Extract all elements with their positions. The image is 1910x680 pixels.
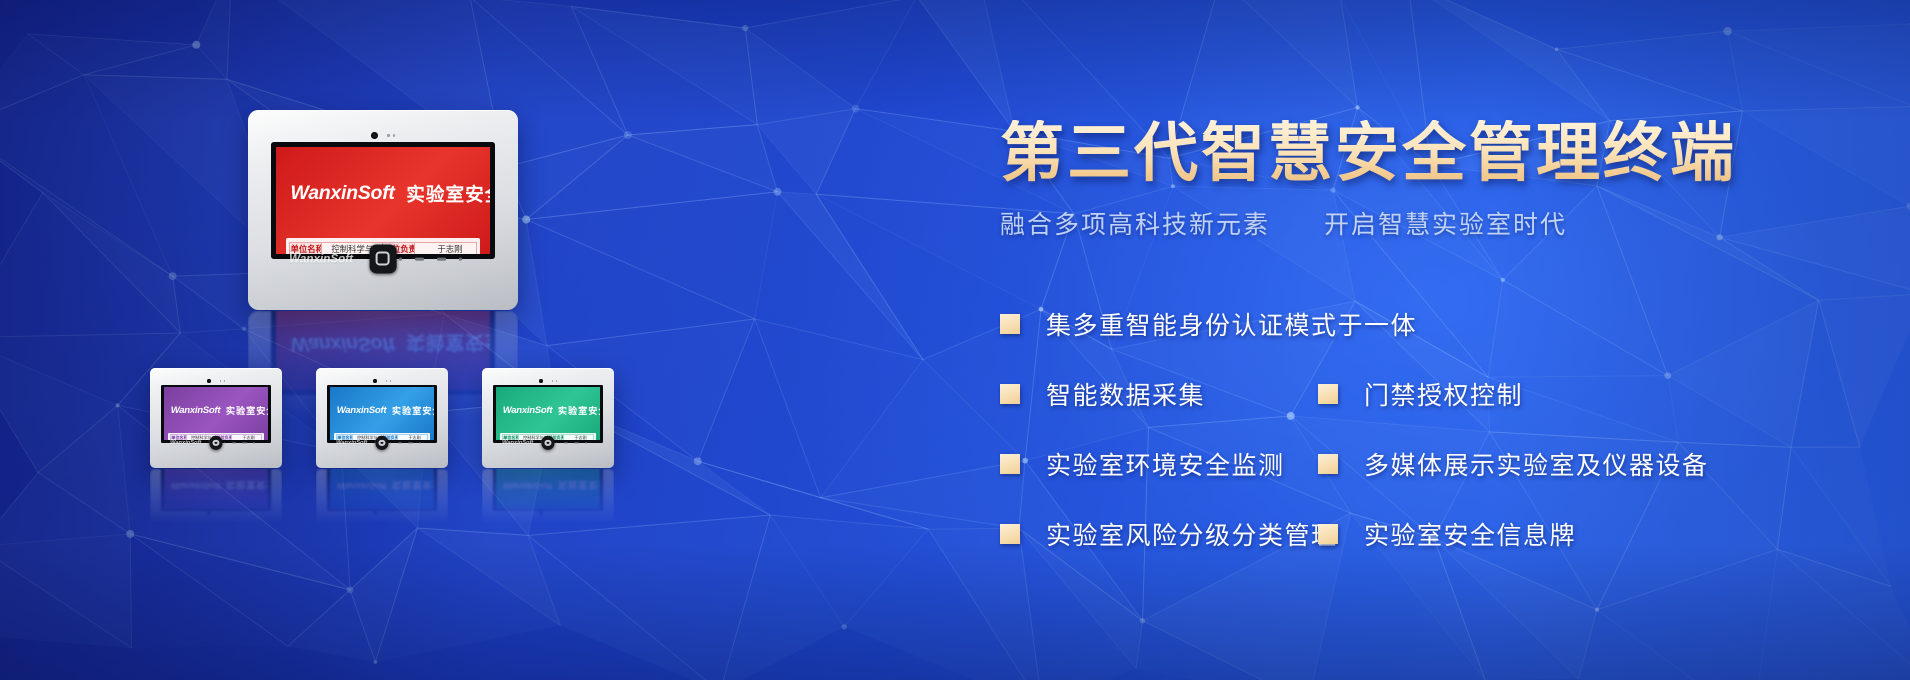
indicator-dash-icon	[242, 442, 247, 443]
home-button-square-icon	[545, 440, 552, 447]
front-camera-row	[327, 377, 436, 385]
device-watermark: WanxinSoft	[502, 440, 533, 446]
safety-info-sign: WanxinSoft 实验室安全信息牌 化学类 一级 单位名称 控制科学与工程学…	[496, 387, 600, 440]
feature-label: 实验室环境安全监测	[1046, 446, 1285, 482]
square-bullet-icon	[1000, 524, 1020, 544]
feature-row: 集多重智能身份认证模式于一体	[1000, 289, 1880, 359]
square-bullet-icon	[1000, 384, 1020, 404]
tablet-body: .sg1_14 .noslash::after{height:1.94px;} …	[482, 368, 614, 468]
home-fingerprint-button[interactable]	[209, 436, 222, 450]
display-screen[interactable]: .sg2_33 .noslash::after{height:3.96px;} …	[276, 147, 489, 253]
tablet-body: .sg1_14 .noslash::after{height:1.94px;} …	[316, 368, 448, 468]
front-camera-icon	[373, 379, 377, 383]
sensor-dot-icon	[552, 380, 553, 381]
indicator-dot-icon	[399, 257, 402, 260]
home-button-square-icon	[213, 440, 220, 447]
screen-bezel: .sg1_14 .noslash::after{height:1.94px;} …	[161, 385, 270, 443]
feature-label: 实验室安全信息牌	[1364, 516, 1576, 552]
safety-info-sign: WanxinSoft 实验室安全信息牌 化学类 一级 单位名称 控制科学与工程学…	[164, 387, 268, 440]
device-watermark: WanxinSoft	[170, 440, 201, 446]
wanxinsoft-logo: WanxinSoft	[290, 182, 394, 205]
indicator-marks	[390, 442, 421, 443]
feature-item: 门禁授权控制	[1318, 376, 1523, 412]
feature-item: 实验室风险分级分类管理	[1000, 516, 1318, 552]
sign-title: 实验室安全信息牌	[558, 403, 600, 417]
sensor-dot-icon	[387, 134, 389, 136]
indicator-marks	[224, 442, 255, 443]
tablet-body: .sg1_14 .noslash::after{height:1.94px;} …	[150, 368, 282, 468]
safety-info-sign: WanxinSoft 实验室安全信息牌 化学类 一级 单位名称 控制科学与工程学…	[276, 147, 489, 253]
feature-label: 多媒体展示实验室及仪器设备	[1364, 446, 1709, 482]
front-camera-row	[493, 377, 602, 385]
indicator-dash-icon	[415, 257, 424, 260]
indicator-dash-icon	[574, 442, 579, 443]
feature-item: 实验室环境安全监测	[1000, 446, 1318, 482]
sensor-dots	[220, 380, 225, 381]
front-camera-icon	[207, 379, 211, 383]
page-title: 第三代智慧安全管理终端	[1000, 120, 1880, 187]
sign-header: WanxinSoft 实验室安全信息牌 化学类 一级	[286, 157, 481, 230]
table-cell-value: 于志刚	[415, 242, 476, 253]
brand-block: WanxinSoft 实验室安全信息牌	[503, 403, 600, 417]
page-subtitle: 融合多项高科技新元素 开启智慧实验室时代	[1000, 205, 1880, 241]
table-cell-value: 于志刚	[563, 435, 593, 440]
home-fingerprint-button[interactable]	[375, 436, 388, 450]
sensor-dot-icon	[224, 380, 225, 381]
home-fingerprint-button[interactable]	[541, 436, 554, 450]
square-bullet-icon	[1318, 384, 1338, 404]
sensor-dot-icon	[220, 380, 221, 381]
display-screen[interactable]: .sg1_14 .noslash::after{height:1.94px;} …	[330, 387, 434, 440]
table-cell-value: 于志刚	[231, 435, 261, 440]
sign-title: 实验室安全信息牌	[226, 403, 268, 417]
safety-info-sign: WanxinSoft 实验室安全信息牌 化学类 一级 单位名称 控制科学与工程学…	[330, 387, 434, 440]
front-camera-icon	[539, 379, 543, 383]
indicator-dash-icon	[232, 442, 237, 443]
sensor-dot-icon	[386, 380, 387, 381]
sign-title: 实验室安全信息牌	[406, 180, 489, 207]
display-screen[interactable]: .sg1_14 .noslash::after{height:1.94px;} …	[496, 387, 600, 440]
sign-header: WanxinSoft 实验室安全信息牌 化学类 一级	[500, 392, 595, 429]
tablet-body: .sg2_33 .noslash::after{height:3.96px;} …	[248, 110, 518, 310]
brand-block: WanxinSoft 实验室安全信息牌	[171, 403, 268, 417]
display-screen[interactable]: .sg1_14 .noslash::after{height:1.94px;} …	[164, 387, 268, 440]
square-bullet-icon	[1318, 524, 1338, 544]
indicator-marks	[399, 257, 462, 260]
indicator-dot-icon	[459, 257, 462, 260]
device-watermark: WanxinSoft	[289, 252, 353, 265]
home-button-square-icon	[379, 440, 386, 447]
front-camera-row	[271, 129, 494, 143]
square-bullet-icon	[1000, 314, 1020, 334]
square-bullet-icon	[1318, 454, 1338, 474]
feature-item: 多媒体展示实验室及仪器设备	[1318, 446, 1709, 482]
sensor-dot-icon	[393, 134, 395, 136]
sensor-dots	[552, 380, 557, 381]
indicator-dot-icon	[419, 442, 420, 443]
indicator-dash-icon	[408, 442, 413, 443]
screen-bezel: .sg1_14 .noslash::after{height:1.94px;} …	[493, 385, 602, 443]
indicator-dot-icon	[390, 442, 391, 443]
front-camera-row	[161, 377, 270, 385]
feature-item: 智能数据采集	[1000, 376, 1318, 412]
feature-label: 门禁授权控制	[1364, 376, 1523, 412]
thumb-tablet-purple[interactable]: .sg1_14 .noslash::after{height:1.94px;} …	[150, 368, 282, 468]
sign-title: 实验室安全信息牌	[392, 403, 434, 417]
table-cell-value: 于志刚	[397, 435, 427, 440]
screen-bezel: .sg1_14 .noslash::after{height:1.94px;} …	[327, 385, 436, 443]
copy-column: 第三代智慧安全管理终端 融合多项高科技新元素 开启智慧实验室时代 集多重智能身份…	[1000, 120, 1880, 569]
sign-header: WanxinSoft 实验室安全信息牌 化学类 一级	[168, 392, 263, 429]
feature-row: 智能数据采集 门禁授权控制	[1000, 359, 1880, 429]
thumb-tablet-green[interactable]: .sg1_14 .noslash::after{height:1.94px;} …	[482, 368, 614, 468]
sensor-dots	[386, 380, 391, 381]
sign-header: WanxinSoft 实验室安全信息牌 化学类 一级	[334, 392, 429, 429]
square-bullet-icon	[1000, 454, 1020, 474]
feature-item: 集多重智能身份认证模式于一体	[1000, 306, 1318, 342]
feature-label: 实验室风险分级分类管理	[1046, 516, 1338, 552]
feature-row: 实验室环境安全监测 多媒体展示实验室及仪器设备	[1000, 429, 1880, 499]
wanxinsoft-logo: WanxinSoft	[171, 405, 221, 416]
screen-bezel: .sg2_33 .noslash::after{height:3.96px;} …	[271, 142, 494, 258]
feature-label: 智能数据采集	[1046, 376, 1205, 412]
brand-block: WanxinSoft 实验室安全信息牌	[290, 180, 489, 207]
feature-row: 实验室风险分级分类管理 实验室安全信息牌	[1000, 499, 1880, 569]
indicator-marks	[556, 442, 587, 443]
device-watermark: WanxinSoft	[336, 440, 367, 446]
indicator-dot-icon	[585, 442, 586, 443]
sensor-dots	[387, 134, 395, 136]
wanxinsoft-logo: WanxinSoft	[337, 405, 387, 416]
sensor-dot-icon	[556, 380, 557, 381]
sensor-dot-icon	[390, 380, 391, 381]
indicator-dash-icon	[437, 257, 446, 260]
home-button-square-icon	[376, 252, 390, 266]
indicator-dot-icon	[556, 442, 557, 443]
main-tablet-device[interactable]: .sg2_33 .noslash::after{height:3.96px;} …	[248, 110, 518, 310]
front-camera-icon	[371, 132, 378, 139]
thumb-tablet-blue[interactable]: .sg1_14 .noslash::after{height:1.94px;} …	[316, 368, 448, 468]
indicator-dash-icon	[564, 442, 569, 443]
indicator-dash-icon	[398, 442, 403, 443]
feature-label: 集多重智能身份认证模式于一体	[1046, 306, 1417, 342]
banner-stage: 第三代智慧安全管理终端 融合多项高科技新元素 开启智慧实验室时代 集多重智能身份…	[0, 0, 1910, 680]
feature-list: 集多重智能身份认证模式于一体 智能数据采集 门禁授权控制 实验室环境安全监测	[1000, 289, 1880, 569]
wanxinsoft-logo: WanxinSoft	[503, 405, 553, 416]
brand-block: WanxinSoft 实验室安全信息牌	[337, 403, 434, 417]
indicator-dot-icon	[253, 442, 254, 443]
home-fingerprint-button[interactable]	[370, 244, 397, 273]
indicator-dot-icon	[224, 442, 225, 443]
feature-item: 实验室安全信息牌	[1318, 516, 1576, 552]
